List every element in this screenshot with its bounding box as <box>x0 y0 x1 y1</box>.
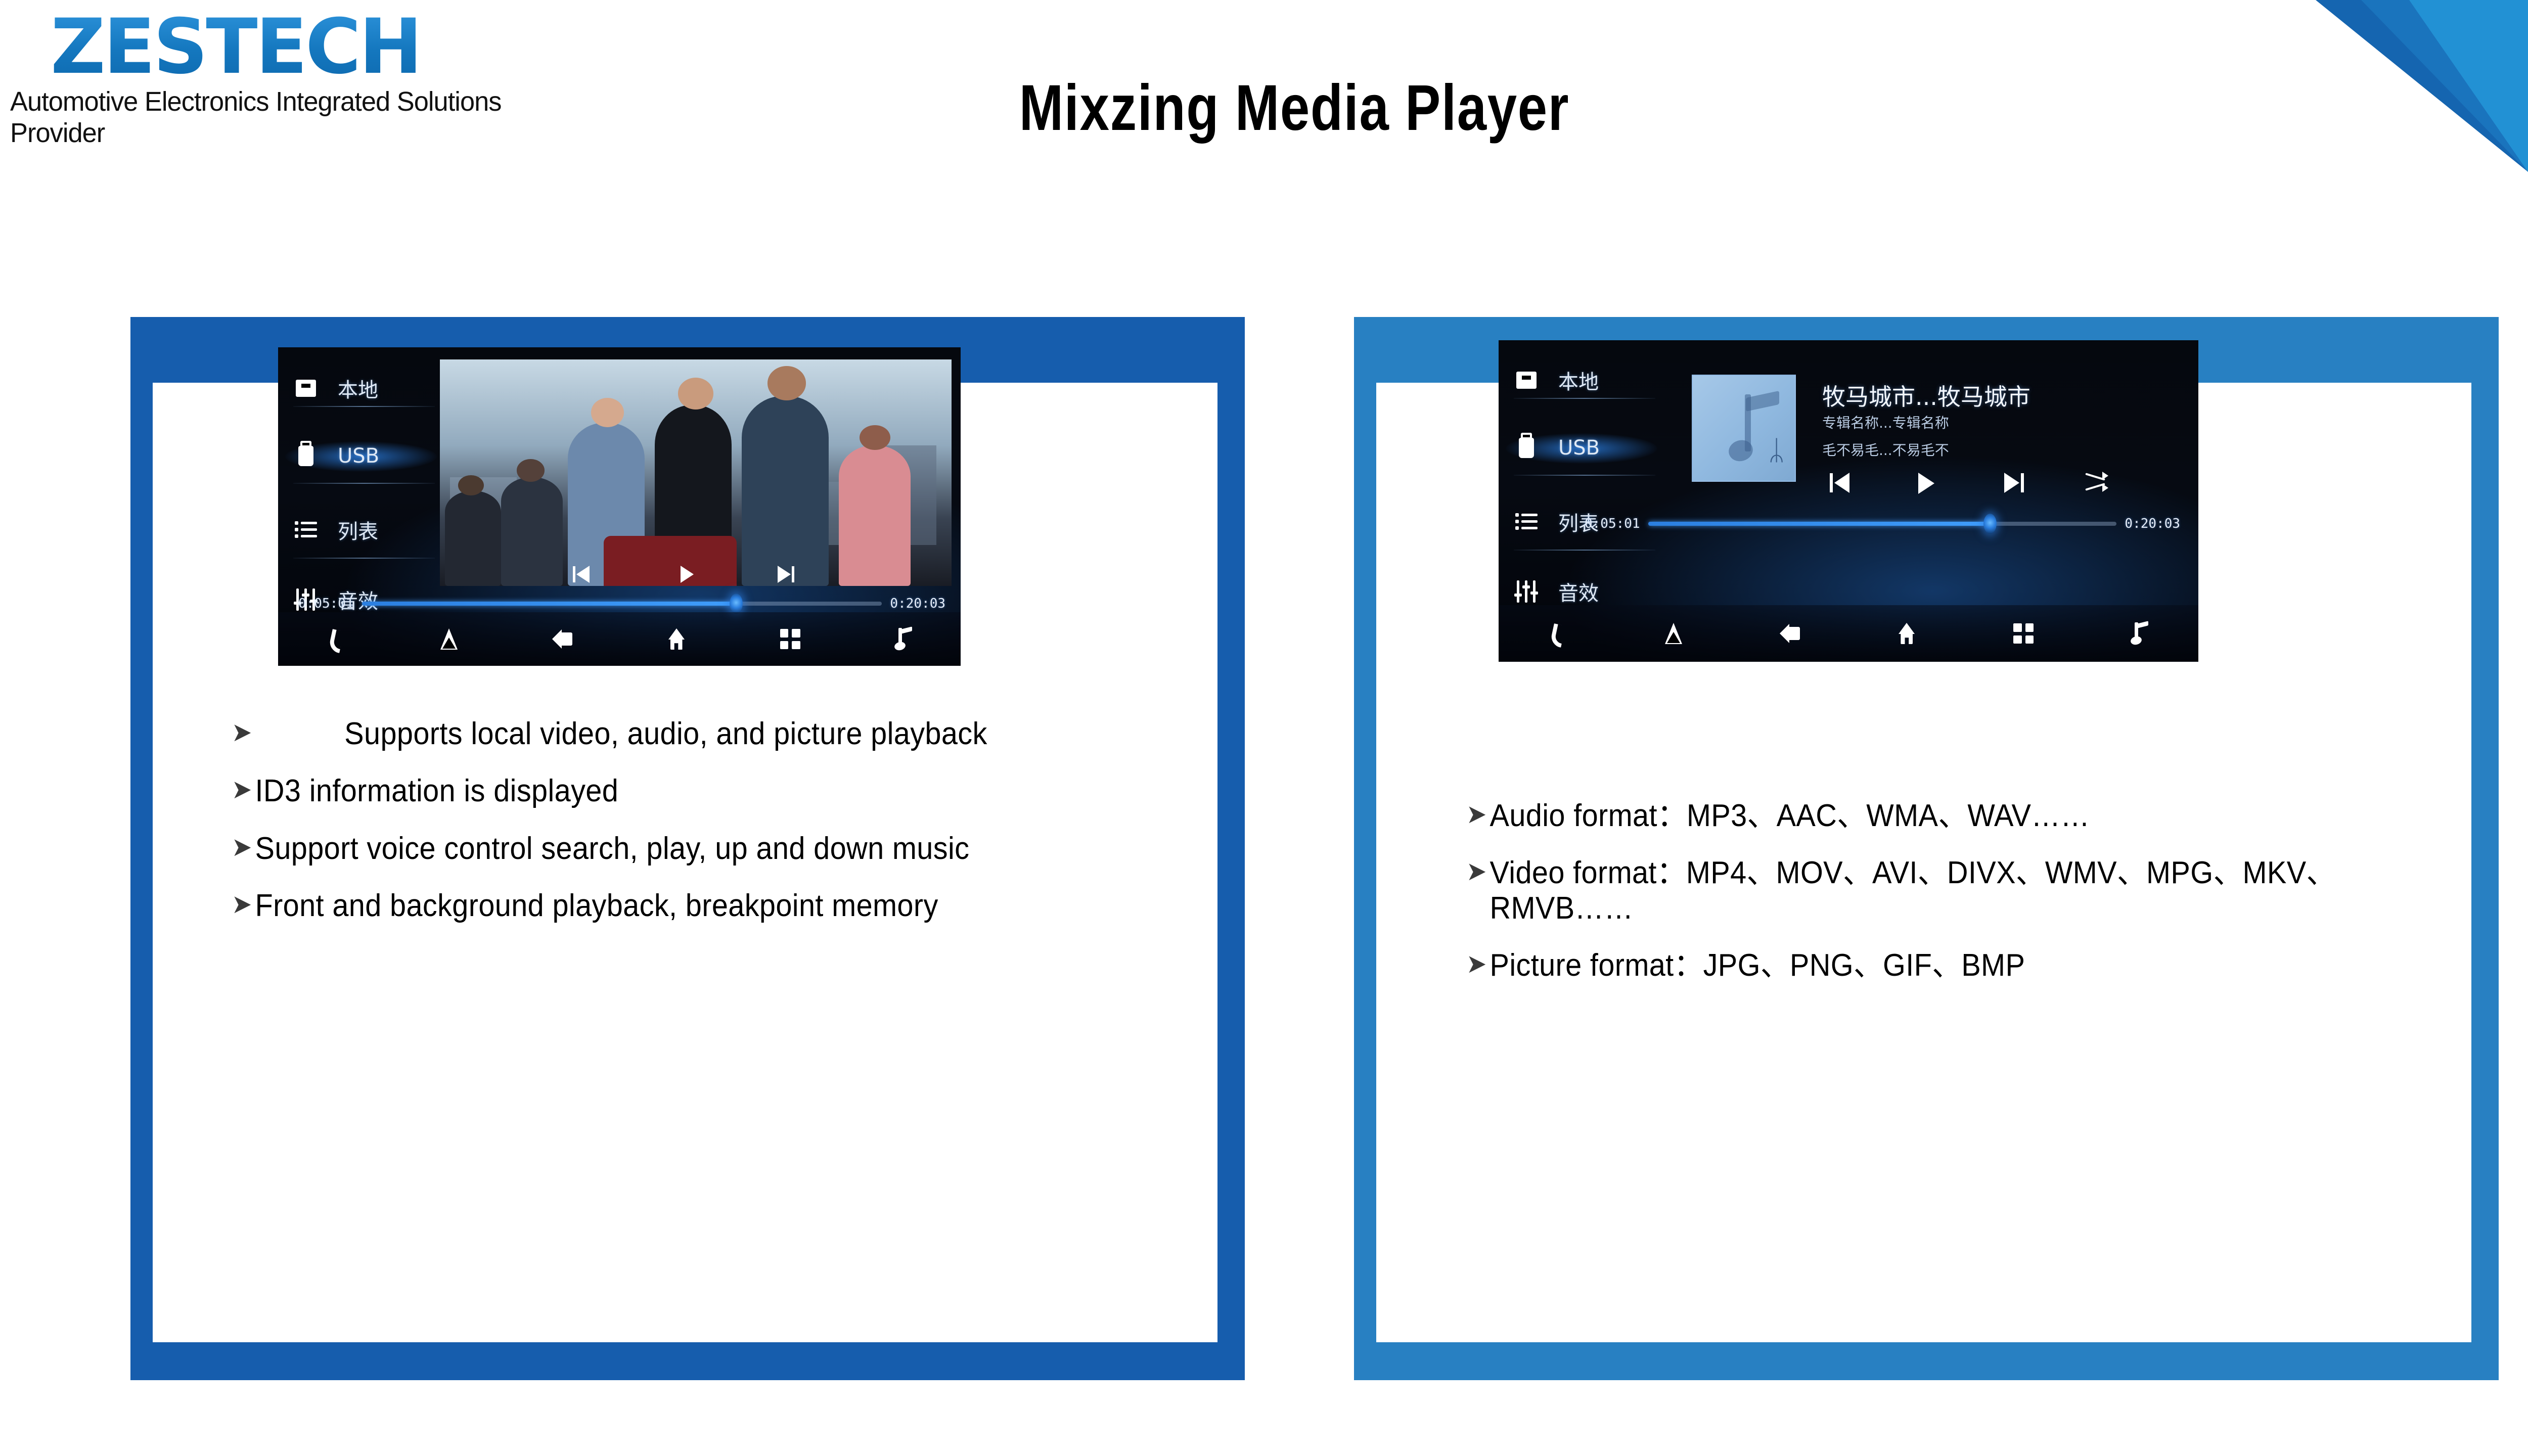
list-item: ➤ Video format：MP4、MOV、AVI、DIVX、WMV、MPG、… <box>1466 855 2378 926</box>
sidebar-item-local[interactable]: 本地 <box>294 374 378 403</box>
seek-thumb[interactable] <box>1983 514 1997 534</box>
sidebar-divider <box>1514 475 1655 476</box>
bullet-marker: ➤ <box>232 831 252 864</box>
next-track-button[interactable] <box>2004 473 2024 493</box>
seek-thumb[interactable] <box>730 594 743 614</box>
sidebar-item-label: 列表 <box>338 515 378 544</box>
list-item: ➤ Supports local video, audio, and pictu… <box>232 716 1115 751</box>
list-item: ➤ ID3 information is displayed <box>232 773 1115 808</box>
list-item: ➤ Picture format：JPG、PNG、GIF、BMP <box>1466 948 2378 983</box>
bullet-text: Audio format：MP3、AAC、WMA、WAV…… <box>1489 798 2378 833</box>
nav-home-button[interactable] <box>1848 623 1965 644</box>
seek-fill <box>362 602 737 606</box>
track-title: 牧马城市...牧马城市 <box>1822 379 2030 412</box>
previous-track-button[interactable] <box>1830 473 1849 493</box>
sidebar-item-label: 本地 <box>338 374 378 403</box>
bullet-text: Video format：MP4、MOV、AVI、DIVX、WMV、MPG、MK… <box>1489 855 2378 926</box>
nav-back-button[interactable] <box>1732 624 1848 643</box>
nav-home-button[interactable] <box>619 628 733 650</box>
progress-bar-row[interactable]: 0:05:01 0:20:03 <box>1585 516 2180 531</box>
bullet-marker: ➤ <box>232 716 252 749</box>
nav-apps-button[interactable] <box>733 629 847 649</box>
overlay-play-button[interactable] <box>681 566 694 583</box>
bullet-marker: ➤ <box>1466 948 1487 981</box>
progress-bar-row[interactable]: 0:05:01 0:20:03 <box>298 596 945 611</box>
equalizer-icon <box>1515 580 1538 603</box>
album-art: ᛦ <box>1692 375 1796 482</box>
bullet-text: ID3 information is displayed <box>255 773 1115 808</box>
nav-phone-button[interactable] <box>278 629 392 649</box>
bullet-marker: ➤ <box>232 773 252 806</box>
sidebar-divider <box>293 406 435 407</box>
list-item: ➤ Support voice control search, play, up… <box>232 831 1115 866</box>
sidebar-item-label: 本地 <box>1558 366 1599 395</box>
nav-back-button[interactable] <box>506 629 619 649</box>
system-navbar <box>278 612 961 666</box>
seek-fill <box>1648 522 1991 526</box>
track-album: 专辑名称...专辑名称 <box>1822 412 1949 432</box>
elapsed-time: 0:05:01 <box>298 596 354 611</box>
sidebar-item-label: 音效 <box>1558 577 1599 606</box>
usb-icon <box>294 444 318 468</box>
nav-music-button[interactable] <box>847 628 961 650</box>
bullet-text: Front and background playback, breakpoin… <box>255 888 1115 923</box>
right-content-panel: 本地 USB 列表 音效 ᛦ 牧马城市...牧马城市 专辑名称...专辑名称 毛… <box>1354 317 2499 1380</box>
video-player-screenshot: 本地 USB 列表 音效 <box>278 347 961 666</box>
bullet-marker: ➤ <box>1466 855 1487 888</box>
elapsed-time: 0:05:01 <box>1585 516 1640 531</box>
sidebar-divider <box>1514 550 1655 551</box>
bullet-text: Supports local video, audio, and picture… <box>255 716 1115 751</box>
sidebar-item-label: USB <box>338 444 379 468</box>
local-storage-icon <box>1515 369 1538 392</box>
usb-icon <box>1515 436 1538 460</box>
list-icon <box>294 518 318 541</box>
nav-navigation-button[interactable] <box>392 628 506 650</box>
right-bullet-list: ➤ Audio format：MP3、AAC、WMA、WAV…… ➤ Video… <box>1466 798 2447 1006</box>
sidebar-item-sound[interactable]: 音效 <box>1515 577 1599 606</box>
sidebar-item-usb[interactable]: USB <box>294 444 379 468</box>
seek-track[interactable] <box>1648 522 2117 526</box>
list-item: ➤ Audio format：MP3、AAC、WMA、WAV…… <box>1466 798 2378 833</box>
sidebar-item-local[interactable]: 本地 <box>1515 366 1599 395</box>
play-button[interactable] <box>1918 473 1934 494</box>
system-navbar <box>1499 605 2198 662</box>
nav-music-button[interactable] <box>2082 622 2198 645</box>
bullet-text: Picture format：JPG、PNG、GIF、BMP <box>1489 948 2378 983</box>
page-title: Mixzing Media Player <box>233 71 2356 145</box>
music-player-screenshot: 本地 USB 列表 音效 ᛦ 牧马城市...牧马城市 专辑名称...专辑名称 毛… <box>1499 340 2198 662</box>
list-item: ➤ Front and background playback, breakpo… <box>232 888 1115 923</box>
overlay-previous-button[interactable] <box>573 566 590 583</box>
bullet-marker: ➤ <box>232 888 252 921</box>
nav-apps-button[interactable] <box>1965 623 2082 644</box>
shuffle-button[interactable] <box>2085 472 2108 492</box>
total-time: 0:20:03 <box>890 596 945 611</box>
sidebar-item-list[interactable]: 列表 <box>294 515 378 544</box>
sidebar-divider <box>1514 398 1655 399</box>
list-icon <box>1515 510 1538 533</box>
ribbon-stripe-3 <box>2409 0 2528 172</box>
local-storage-icon <box>294 377 318 400</box>
sidebar-item-label: USB <box>1558 436 1600 460</box>
total-time: 0:20:03 <box>2125 516 2180 531</box>
left-content-panel: 本地 USB 列表 音效 <box>130 317 1245 1380</box>
overlay-next-button[interactable] <box>778 566 794 583</box>
bullet-marker: ➤ <box>1466 798 1487 831</box>
nav-navigation-button[interactable] <box>1615 623 1732 644</box>
bullet-text: Support voice control search, play, up a… <box>255 831 1115 866</box>
video-frame <box>440 359 952 586</box>
track-artist: 毛不易毛...不易毛不 <box>1822 439 1949 460</box>
bluetooth-icon: ᛦ <box>1768 437 1790 473</box>
sidebar-divider <box>293 483 435 484</box>
seek-track[interactable] <box>362 602 882 606</box>
sidebar-item-usb[interactable]: USB <box>1515 436 1600 460</box>
nav-phone-button[interactable] <box>1499 623 1615 644</box>
sidebar-divider <box>293 558 435 559</box>
left-bullet-list: ➤ Supports local video, audio, and pictu… <box>232 716 1182 946</box>
